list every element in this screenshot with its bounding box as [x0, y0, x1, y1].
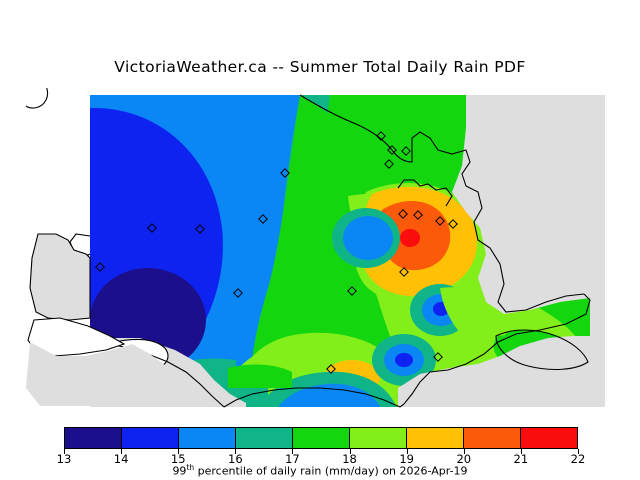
colorbar[interactable] [64, 427, 578, 449]
caption-prefix: 99 [172, 465, 186, 478]
colorbar-swatch-21-22[interactable] [521, 428, 577, 448]
east-white-panel [605, 95, 640, 407]
northeast-maximum [400, 229, 420, 247]
colorbar-swatch-19-20[interactable] [407, 428, 464, 448]
colorbar-swatch-13-14[interactable] [65, 428, 122, 448]
page-title: VictoriaWeather.ca -- Summer Total Daily… [0, 58, 640, 76]
colorbar-swatch-20-21[interactable] [464, 428, 521, 448]
weather-map-page: VictoriaWeather.ca -- Summer Total Daily… [0, 0, 640, 480]
colorbar-swatch-18-19[interactable] [350, 428, 407, 448]
caption-suffix: percentile of daily rain (mm/day) on 202… [194, 465, 467, 478]
colorbar-swatch-16-17[interactable] [236, 428, 293, 448]
contour-map[interactable] [0, 88, 640, 410]
colorbar-swatch-15-16[interactable] [179, 428, 236, 448]
caption-superscript: th [186, 463, 194, 472]
colorbar-swatch-17-18[interactable] [293, 428, 350, 448]
map-plot-area[interactable] [0, 88, 640, 410]
colorbar-swatch-14-15[interactable] [122, 428, 179, 448]
colorbar-caption: 99th percentile of daily rain (mm/day) o… [0, 463, 640, 478]
